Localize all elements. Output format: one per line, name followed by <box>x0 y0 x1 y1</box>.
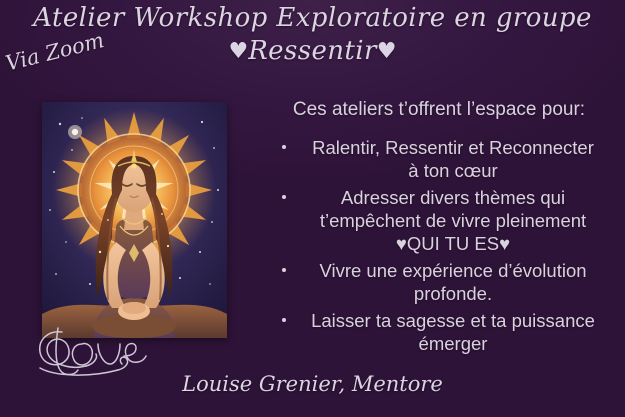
list-item-line: émerger <box>292 332 614 355</box>
list-item-line-emphasis: ♥QUI TU ES♥ <box>292 232 614 255</box>
bullet-icon <box>282 145 286 149</box>
bullet-icon <box>282 318 286 322</box>
lead-text: Ces ateliers t’offrent l’espace pour: <box>258 98 620 122</box>
list-item-line: Laisser ta sagesse et ta puissance <box>292 309 614 332</box>
page-title-subject: Ressentir <box>248 36 377 66</box>
list-item-line: Adresser divers thèmes qui <box>292 186 614 209</box>
list-item: Adresser divers thèmes qui t’empêchent d… <box>258 186 620 255</box>
list-item-line: profonde. <box>292 282 614 305</box>
via-zoom-badge: Via Zoom <box>3 28 106 76</box>
list-item-line: à ton cœur <box>292 159 614 182</box>
meditation-photo <box>42 102 227 338</box>
heart-icon-right: ♥ <box>377 39 397 64</box>
poster-canvas: Atelier Workshop Exploratoire en groupe … <box>0 0 625 417</box>
bullet-icon <box>282 195 286 199</box>
body-content: Ces ateliers t’offrent l’espace pour: Ra… <box>258 98 620 359</box>
signature: Louise Grenier, Mentore <box>0 372 625 396</box>
benefits-list: Ralentir, Ressentir et Reconnecter à ton… <box>258 136 620 355</box>
bullet-icon <box>282 268 286 272</box>
heart-icon-left: ♥ <box>228 39 248 64</box>
list-item: Laisser ta sagesse et ta puissance émerg… <box>258 309 620 355</box>
list-item: Vivre une expérience d’évolution profond… <box>258 259 620 305</box>
list-item-line: t’empêchent de vivre pleinement <box>292 209 614 232</box>
list-item-line: Ralentir, Ressentir et Reconnecter <box>292 136 614 159</box>
meditation-illustration <box>42 102 227 338</box>
list-item: Ralentir, Ressentir et Reconnecter à ton… <box>258 136 620 182</box>
list-item-line: Vivre une expérience d’évolution <box>292 259 614 282</box>
